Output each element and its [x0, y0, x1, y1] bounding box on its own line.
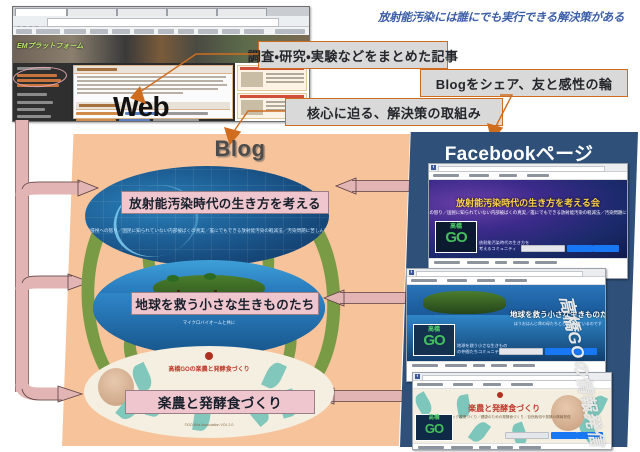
fb-window-titlebar: f — [429, 164, 627, 172]
fb-tab-row[interactable] — [413, 443, 611, 450]
fb-nav-row[interactable] — [429, 172, 627, 180]
island-shape — [423, 291, 506, 314]
ladybug-icon — [205, 352, 213, 360]
blog-plate-farming[interactable]: 楽農と発酵食づくり — [125, 390, 315, 414]
ladybug-icon — [497, 392, 503, 398]
facebook-icon: f — [415, 374, 420, 379]
fb-search-input[interactable] — [438, 166, 605, 172]
browser-url-row — [13, 16, 309, 27]
fb-profile-badge[interactable]: 高橋 GO — [435, 221, 477, 253]
fb-nav-row[interactable] — [407, 277, 605, 285]
blog-thumb-subtitle: マイクロバイオームと共に — [183, 320, 235, 326]
browser-nav-buttons[interactable] — [16, 18, 44, 24]
fb-like-button[interactable] — [551, 432, 577, 439]
fb-cta-button[interactable] — [521, 245, 565, 252]
article-heading-bar — [74, 66, 232, 74]
callout-article: 調査・研究・実験などをまとめた記事 — [258, 41, 448, 69]
blog-thumb-inner-title: 高橋GOの楽農と発酵食づくり — [168, 364, 249, 373]
fb-cover-title: 放射能汚染時代の生き方を考える会 — [456, 196, 600, 209]
facebook-icon: f — [431, 165, 436, 170]
blog-thumb-subtitle: 国の汚染対策や人権侵視への怒り／国民に知られていない内部被ばくの真実／誰にでもで… — [85, 228, 329, 234]
leaf-icon — [468, 419, 491, 443]
fb-profile-badge[interactable]: 高橋 GO — [415, 414, 453, 441]
browser-url-input[interactable] — [47, 18, 279, 27]
web-label: Web — [113, 93, 169, 121]
blog-thumb-radiation[interactable]: 国の汚染対策や人権侵視への怒り／国民に知られていない内部被ばくの真実／誰にでもで… — [85, 166, 329, 266]
leaf-icon — [261, 360, 287, 391]
fb-window-titlebar: f — [407, 269, 605, 277]
browser-tab-strip — [13, 7, 309, 16]
leaf-icon — [413, 391, 435, 417]
fb-cover-subtitle: オーガニック農業づくり／健康のための発酵食づくり／自然栽培や発酵の情報発信 — [438, 415, 571, 420]
fb-search-input[interactable] — [422, 375, 589, 381]
blog-thumb-footer: ©GO-Kita Association VOL 2.0 — [185, 423, 234, 428]
site-logo: EMプラットフォーム — [17, 41, 83, 51]
fb-tab-row[interactable] — [429, 258, 627, 266]
callout-core: 核心に迫る、解決策の取組み — [285, 98, 503, 126]
callout-share: Blogをシェア、友と感性の輪 — [420, 69, 628, 97]
fb-like-button[interactable] — [567, 245, 593, 252]
fb-cover-title: 楽農と発酵食づくり — [468, 403, 540, 414]
fb-cover-photo: 放射能汚染時代の生き方を考える会 国の汚染対策や人権軽視への怒り／国民に知られて… — [429, 180, 627, 258]
fb-search-input[interactable] — [416, 271, 583, 277]
facebook-page-window-radiation[interactable]: f 放射能汚染時代の生き方を考える会 国の汚染対策や人権軽視への怒り／国民に知ら… — [428, 163, 628, 279]
blog-plate-microbes[interactable]: 地球を救う小さな生きものたち — [131, 292, 319, 315]
fb-cta-button[interactable] — [505, 432, 549, 439]
blog-panel-title: Blog — [180, 136, 300, 162]
blog-plate-radiation[interactable]: 放射能汚染時代の生き方を考える — [121, 191, 329, 214]
fb-cta-button[interactable] — [499, 348, 543, 355]
facebook-panel-title: Facebookページ — [424, 139, 614, 166]
facebook-icon: f — [409, 270, 414, 275]
fb-cover-subtitle: 国の汚染対策や人権軽視への怒り／国民に知られていない内部被ばくの真実／誰にでもで… — [429, 210, 627, 217]
tagline: 放射能汚染には誰にでも実行できる解決策がある — [378, 9, 638, 25]
fb-profile-badge[interactable]: 高橋 GO — [413, 324, 455, 356]
fb-message-button[interactable] — [593, 245, 619, 252]
diagram-canvas: EMプラットフォーム — [0, 0, 640, 452]
fb-cover-subtitle: ほうおはんじ命の母たちとともにっているのです — [514, 321, 602, 327]
